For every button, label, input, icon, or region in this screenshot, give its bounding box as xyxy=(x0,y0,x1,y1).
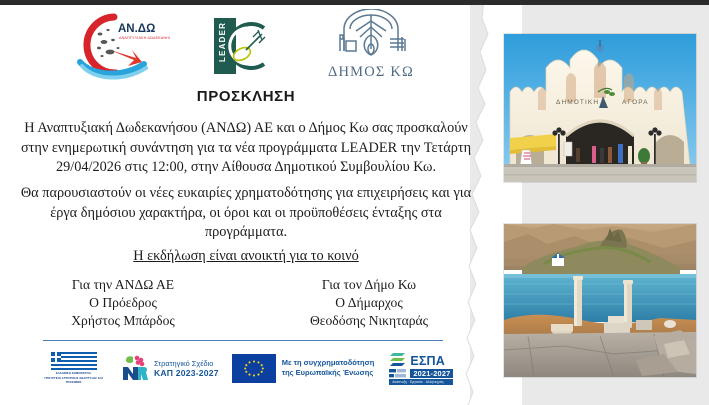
signature-org: Για την ΑΝΔΩ ΑΕ xyxy=(18,276,228,294)
kap-text-block: Στρατηγικό Σχέδιο ΚΑΠ 2023-2027 xyxy=(154,359,219,378)
signature-person: Χρήστος Μπάρδος xyxy=(18,312,228,330)
espa-word: ΕΣΠΑ xyxy=(410,354,445,368)
content-panel: ΑΝ.ΔΩ ΑΝΑΠΤΥΞΙΑΚΗ ΔΩΔΕΚΑΝΗΣΟΥ xyxy=(0,0,492,405)
ando-logo-text: ΑΝ.ΔΩ xyxy=(118,23,155,35)
espa-years: 2021-2027 xyxy=(410,369,453,378)
signature-role: Ο Πρόεδρος xyxy=(18,294,228,312)
signature-person: Θεοδόσης Νικηταράς xyxy=(264,312,474,330)
eu-flag-icon xyxy=(232,354,276,383)
signature-row: Για την ΑΝΔΩ ΑΕ Ο Πρόεδρος Χρήστος Μπάρδ… xyxy=(0,276,492,330)
espa-mark-icon xyxy=(389,352,407,368)
dimos-kos-logo-text: ΔΗΜΟΣ ΚΩ xyxy=(328,64,414,81)
leader-logo: LEADER xyxy=(212,16,274,76)
ando-logo: ΑΝ.ΔΩ ΑΝΑΠΤΥΞΙΑΚΗ ΔΩΔΕΚΑΝΗΣΟΥ xyxy=(66,10,170,82)
eu-line1: Με τη συγχρηματοδότηση xyxy=(282,358,375,368)
hellenic-line1: ΕΛΛΗΝΙΚΗ ΔΗΜΟΚΡΑΤΙΑ xyxy=(56,372,91,375)
signature-block-kos: Για τον Δήμο Κω Ο Δήμαρχος Θεοδόσης Νικη… xyxy=(264,276,474,330)
greek-flag-icon xyxy=(51,352,97,370)
espa-top-row: ΕΣΠΑ xyxy=(389,352,453,368)
eu-cofunding-logo: Με τη συγχρηματοδότηση της Ευρωπαϊκής Έν… xyxy=(232,354,375,383)
espa-logo: ΕΣΠΑ 2021-2027 Ανάπτυξη · Εργασία · Αλλη… xyxy=(389,352,453,385)
footer-logo-strip: ΕΛΛΗΝΙΚΗ ΔΗΜΟΚΡΑΤΙΑ ΥΠΟΥΡΓΕΙΟ ΑΓΡΟΤΙΚΗΣ … xyxy=(36,347,456,389)
page-title: ΠΡΟΣΚΛΗΣΗ xyxy=(0,88,492,105)
leader-logo-text: LEADER xyxy=(218,22,227,62)
kap-strategic-plan-logo: Στρατηγικό Σχέδιο ΚΑΠ 2023-2027 xyxy=(120,353,219,383)
market-sign-left: ΔΗΜΟΤΙΚΗ xyxy=(556,99,599,106)
hellenic-line2: ΥΠΟΥΡΓΕΙΟ ΑΓΡΟΤΙΚΗΣ ΑΝΑΠΤΥΞΗΣ ΚΑΙ ΤΡΟΦΙΜ… xyxy=(36,377,111,384)
divider-rule xyxy=(43,340,443,341)
signature-block-ando: Για την ΑΝΔΩ ΑΕ Ο Πρόεδρος Χρήστος Μπάρδ… xyxy=(18,276,228,330)
kap-line1: Στρατηγικό Σχέδιο xyxy=(154,359,219,368)
signature-org: Για τον Δήμο Κω xyxy=(264,276,474,294)
espa-subtitle: Ανάπτυξη · Εργασία · Αλληλεγγύη xyxy=(389,379,453,385)
eu-line2: της Ευρωπαϊκής Ένωσης xyxy=(282,368,375,378)
invitation-slide: ΑΝ.ΔΩ ΑΝΑΠΤΥΞΙΑΚΗ ΔΩΔΕΚΑΝΗΣΟΥ xyxy=(0,0,709,405)
photo-market: ΔΗΜΟΤΙΚΗ ΑΓΟΡΑ xyxy=(504,34,696,182)
dimos-kos-logo: ΔΗΜΟΣ ΚΩ xyxy=(316,9,426,83)
eu-text-block: Με τη συγχρηματοδότηση της Ευρωπαϊκής Έν… xyxy=(282,358,375,378)
kap-line2: ΚΑΠ 2023-2027 xyxy=(154,368,219,378)
ando-logo-subtext: ΑΝΑΠΤΥΞΙΑΚΗ ΔΩΔΕΚΑΝΗΣΟΥ xyxy=(119,36,170,40)
signature-role: Ο Δήμαρχος xyxy=(264,294,474,312)
hellenic-republic-logo: ΕΛΛΗΝΙΚΗ ΔΗΜΟΚΡΑΤΙΑ ΥΠΟΥΡΓΕΙΟ ΑΓΡΟΤΙΚΗΣ … xyxy=(36,348,111,388)
logo-row: ΑΝ.ΔΩ ΑΝΑΠΤΥΞΙΑΚΗ ΔΩΔΕΚΑΝΗΣΟΥ xyxy=(0,6,492,86)
paragraph-details: Θα παρουσιαστούν οι νέες ευκαιρίες χρημα… xyxy=(12,184,480,243)
espa-years-row: 2021-2027 xyxy=(389,369,453,378)
market-sign-right: ΑΓΟΡΑ xyxy=(622,99,649,106)
top-bar xyxy=(0,0,709,5)
espa-bars-icon xyxy=(389,369,407,378)
paragraph-intro: Η Αναπτυξιακή Δωδεκανήσου (ΑΝΔΩ) ΑΕ και … xyxy=(12,119,480,178)
kap-emblem-icon xyxy=(120,353,150,383)
subheading-open-to-public: Η εκδήλωση είναι ανοικτή για το κοινό xyxy=(0,248,492,265)
photo-kastri xyxy=(504,224,696,377)
